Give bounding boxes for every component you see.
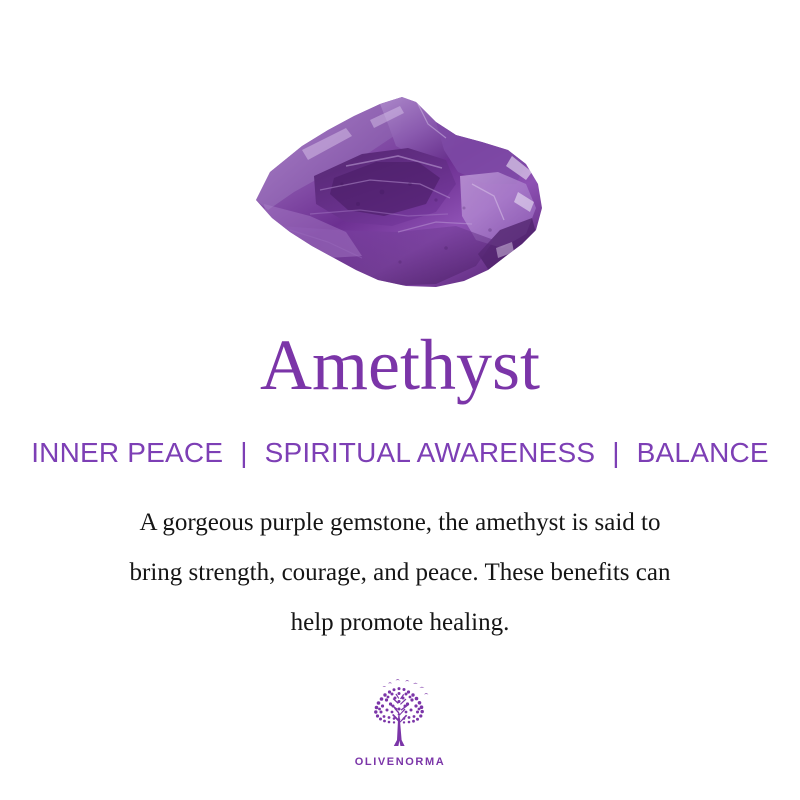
description-line: help promote healing. — [50, 598, 750, 648]
description-line: bring strength, courage, and peace. Thes… — [50, 548, 750, 598]
keyword-separator: | — [231, 438, 256, 469]
amethyst-stone-icon — [250, 80, 550, 295]
description-line: A gorgeous purple gemstone, the amethyst… — [50, 498, 750, 548]
keyword-list: INNER PEACE | SPIRITUAL AWARENESS | BALA… — [0, 438, 800, 469]
page-title: Amethyst — [0, 327, 800, 405]
description-text: A gorgeous purple gemstone, the amethyst… — [50, 498, 750, 648]
keyword-inner-peace: INNER PEACE — [31, 437, 223, 468]
keyword-spiritual-awareness: SPIRITUAL AWARENESS — [265, 437, 596, 468]
tree-with-birds-icon — [358, 676, 442, 752]
keyword-separator: | — [603, 438, 628, 469]
brand-logo: OLIVENORMA — [0, 676, 800, 768]
amethyst-info-card: Amethyst INNER PEACE | SPIRITUAL AWARENE… — [0, 0, 800, 800]
keyword-balance: BALANCE — [637, 437, 769, 468]
product-image-container — [0, 70, 800, 305]
brand-wordmark: OLIVENORMA — [355, 756, 446, 768]
